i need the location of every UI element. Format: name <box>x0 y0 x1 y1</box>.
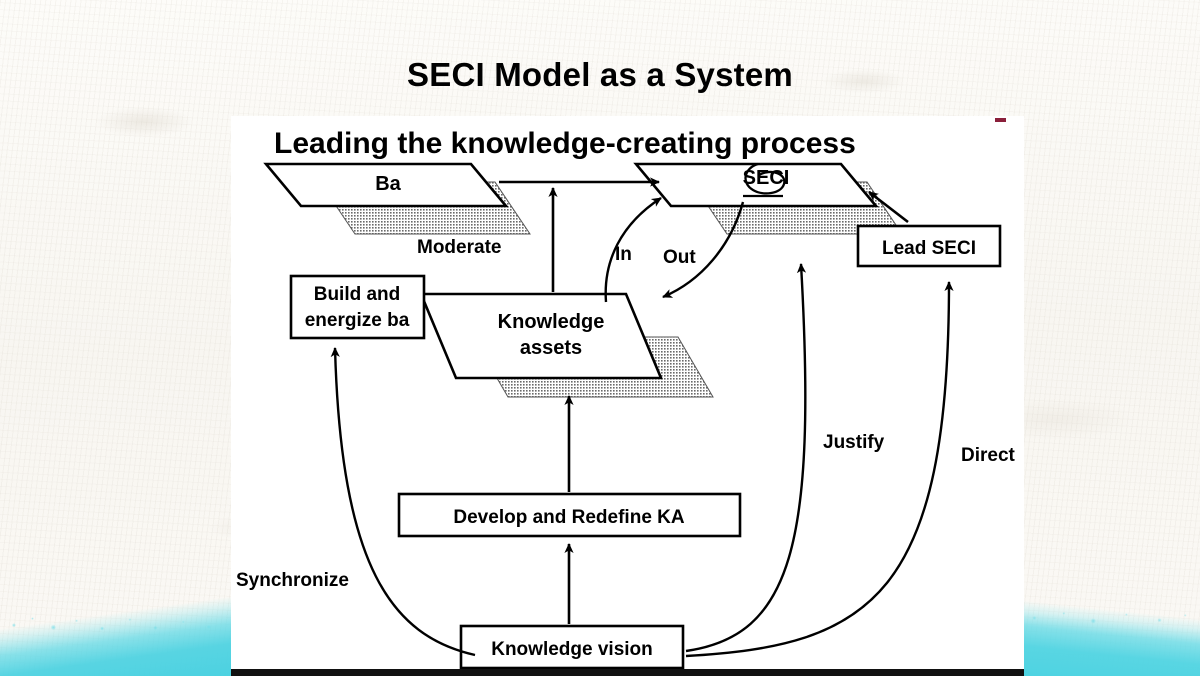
box-build-energize-ba[interactable]: Build and energize ba <box>291 276 424 338</box>
box-knowledge-vision-label: Knowledge vision <box>491 639 653 660</box>
arrow-in <box>606 198 661 302</box>
page-title: SECI Model as a System <box>0 56 1200 94</box>
edge-label-moderate: Moderate <box>417 237 501 258</box>
box-build-energize-ba-label-1: Build and <box>314 284 401 305</box>
figure-panel: Leading the knowledge-creating process B… <box>231 116 1024 676</box>
arrow-direct <box>686 282 949 656</box>
box-knowledge-vision[interactable]: Knowledge vision <box>461 626 683 668</box>
plane-knowledge-assets-label-2: assets <box>520 337 582 359</box>
box-lead-seci-label: Lead SECI <box>882 238 976 259</box>
edge-label-justify: Justify <box>823 432 885 453</box>
plane-knowledge-assets: Knowledge assets <box>421 294 713 397</box>
edge-label-synchronize: Synchronize <box>236 570 349 591</box>
plane-ba-label: Ba <box>375 173 401 195</box>
panel-footer-bar <box>231 669 1024 676</box>
box-build-energize-ba-label-2: energize ba <box>305 310 410 331</box>
box-develop-redefine-ka[interactable]: Develop and Redefine KA <box>399 494 740 536</box>
box-lead-seci[interactable]: Lead SECI <box>858 226 1000 266</box>
figure-heading: Leading the knowledge-creating process <box>274 127 856 160</box>
seci-diagram: Leading the knowledge-creating process B… <box>231 116 1024 669</box>
edge-label-in: In <box>615 244 632 265</box>
arrow-justify <box>686 264 805 651</box>
plane-ba: Ba <box>266 164 530 234</box>
edge-label-direct: Direct <box>961 445 1016 466</box>
stray-red-mark <box>995 118 1006 122</box>
edge-label-out: Out <box>663 247 696 268</box>
box-develop-redefine-ka-label: Develop and Redefine KA <box>453 507 684 528</box>
plane-knowledge-assets-label-1: Knowledge <box>498 311 605 333</box>
plane-seci: SECI <box>636 164 902 234</box>
